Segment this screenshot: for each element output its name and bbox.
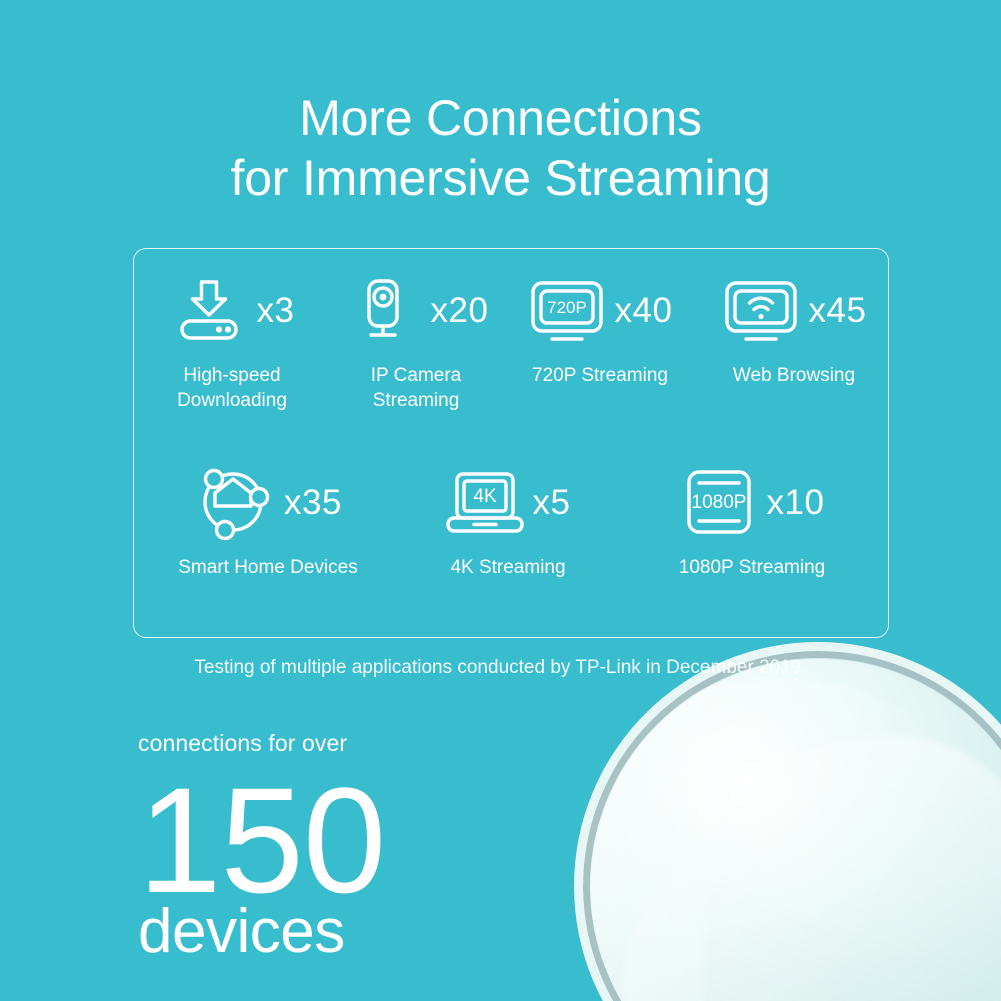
stat-label: 1080P Streaming <box>679 555 825 580</box>
tablet-1080p-icon: 1080P <box>680 463 758 541</box>
stat-top: x45 <box>722 271 867 349</box>
router-highlight-a <box>583 679 987 1001</box>
router-highlight-c <box>621 811 1001 1001</box>
stat-item-4k-streaming: 4K x5 4K Streaming <box>402 463 614 580</box>
page-title-line-2: for Immersive Streaming <box>0 148 1001 208</box>
router-device-illustration <box>583 651 1001 1001</box>
stat-label: 720P Streaming <box>532 363 668 388</box>
stat-label: 4K Streaming <box>450 555 565 580</box>
stat-top: x35 <box>194 463 342 541</box>
stats-row-1: x3 High-speed Downloading x20 IP Camer <box>134 271 890 413</box>
stat-top: 1080P x10 <box>680 463 825 541</box>
stat-item-ip-camera-streaming: x20 IP Camera Streaming <box>330 271 502 413</box>
stat-multiplier: x45 <box>809 293 867 328</box>
stat-label: IP Camera Streaming <box>371 363 461 413</box>
smart-home-icon <box>194 463 272 541</box>
stat-top: 720P x40 <box>528 271 673 349</box>
router-dome <box>591 659 1001 1001</box>
page-title: More Connections for Immersive Streaming <box>0 88 1001 208</box>
monitor-720p-badge-text: 720P <box>547 298 587 317</box>
devices-kicker-text: connections for over <box>138 732 385 755</box>
footnote-text: Testing of multiple applications conduct… <box>0 657 1001 679</box>
stat-multiplier: x40 <box>615 293 673 328</box>
stat-top: x3 <box>170 271 295 349</box>
stat-top: x20 <box>344 271 489 349</box>
stat-item-smart-home-devices: x35 Smart Home Devices <box>134 463 402 580</box>
stat-multiplier: x20 <box>431 293 489 328</box>
page-title-line-1: More Connections <box>299 90 702 146</box>
stat-top: 4K x5 <box>446 463 571 541</box>
monitor-wifi-icon <box>722 271 800 349</box>
router-highlight-b <box>705 736 1001 1001</box>
download-router-icon <box>170 271 248 349</box>
devices-summary: connections for over 150 devices <box>138 732 385 962</box>
tablet-1080p-badge-text: 1080P <box>691 492 746 513</box>
stat-multiplier: x5 <box>533 485 571 520</box>
stat-item-1080p-streaming: 1080P x10 1080P Streaming <box>614 463 890 580</box>
stat-label: Smart Home Devices <box>178 555 358 580</box>
stats-card: x3 High-speed Downloading x20 IP Camer <box>133 248 889 638</box>
stat-multiplier: x3 <box>257 293 295 328</box>
router-inner-ring <box>583 651 1001 1001</box>
stats-row-2: x35 Smart Home Devices 4K x5 4K Streami <box>134 463 890 580</box>
devices-count: 150 <box>138 771 385 909</box>
stat-item-high-speed-downloading: x3 High-speed Downloading <box>134 271 330 413</box>
stat-label: Web Browsing <box>733 363 855 388</box>
stat-item-web-browsing: x45 Web Browsing <box>698 271 890 413</box>
stat-multiplier: x35 <box>284 485 342 520</box>
stat-item-720p-streaming: 720P x40 720P Streaming <box>502 271 698 413</box>
stat-label: High-speed Downloading <box>177 363 287 413</box>
laptop-4k-icon: 4K <box>446 463 524 541</box>
stat-multiplier: x10 <box>767 485 825 520</box>
laptop-4k-badge-text: 4K <box>473 486 497 507</box>
ip-camera-icon <box>344 271 422 349</box>
monitor-720p-icon: 720P <box>528 271 606 349</box>
